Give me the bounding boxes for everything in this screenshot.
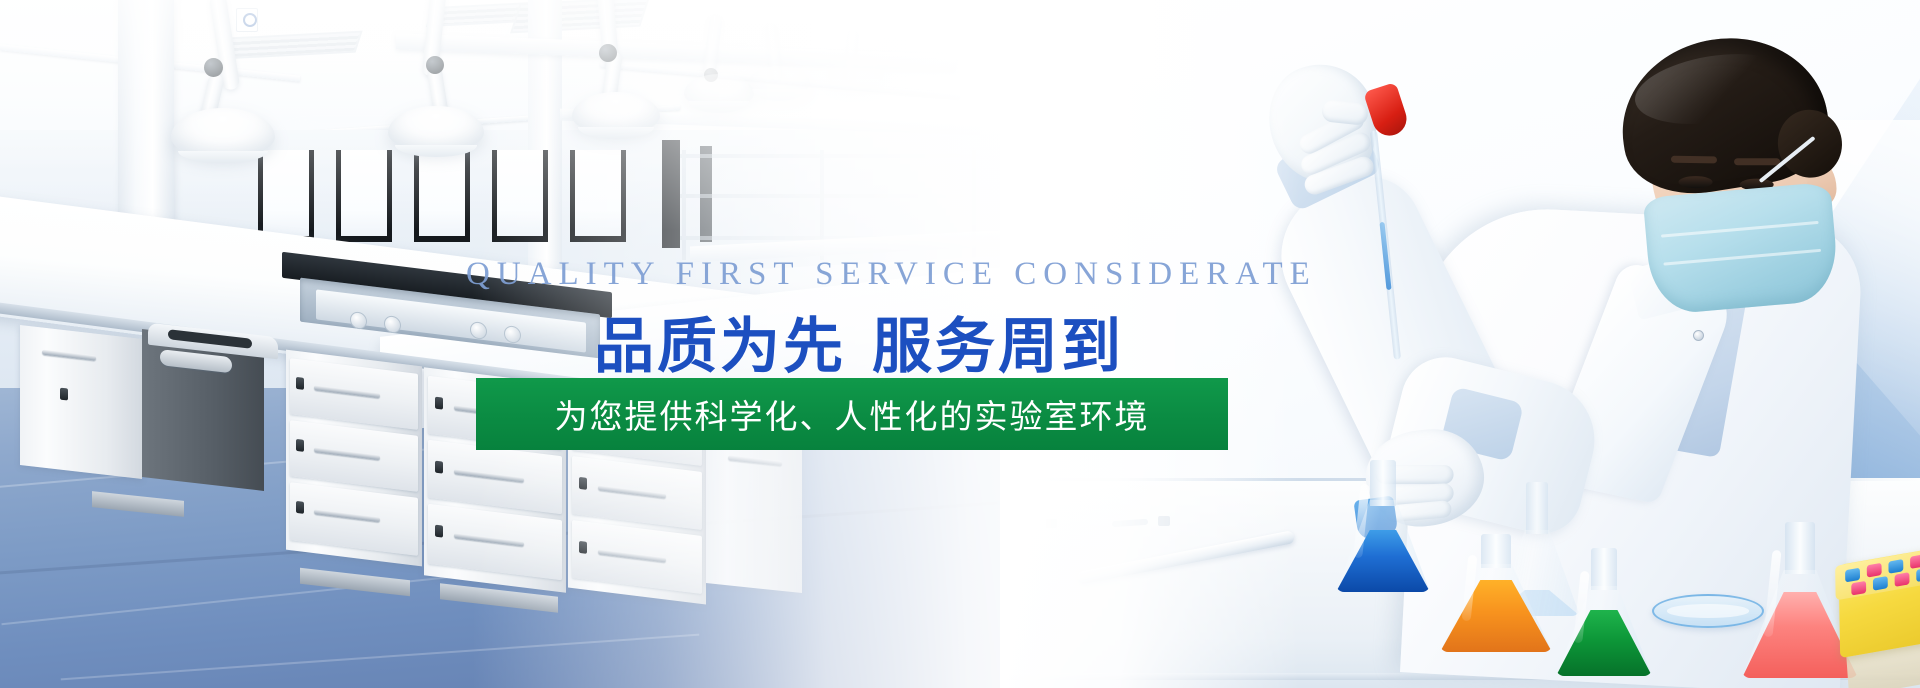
headline: 品质为先服务周到 [594, 298, 1124, 385]
headline-part-2: 服务周到 [872, 313, 1124, 380]
hero-banner: QUALITY FIRST SERVICE CONSIDERATE 品质为先服务… [0, 0, 1920, 688]
subtitle-text: 为您提供科学化、人性化的实验室环境 [555, 390, 1150, 438]
subtitle-bar: 为您提供科学化、人性化的实验室环境 [476, 378, 1228, 450]
banner-text-block: QUALITY FIRST SERVICE CONSIDERATE 品质为先服务… [0, 0, 1920, 688]
headline-part-1: 品质为先 [594, 313, 846, 380]
english-tagline: QUALITY FIRST SERVICE CONSIDERATE [466, 256, 1317, 293]
